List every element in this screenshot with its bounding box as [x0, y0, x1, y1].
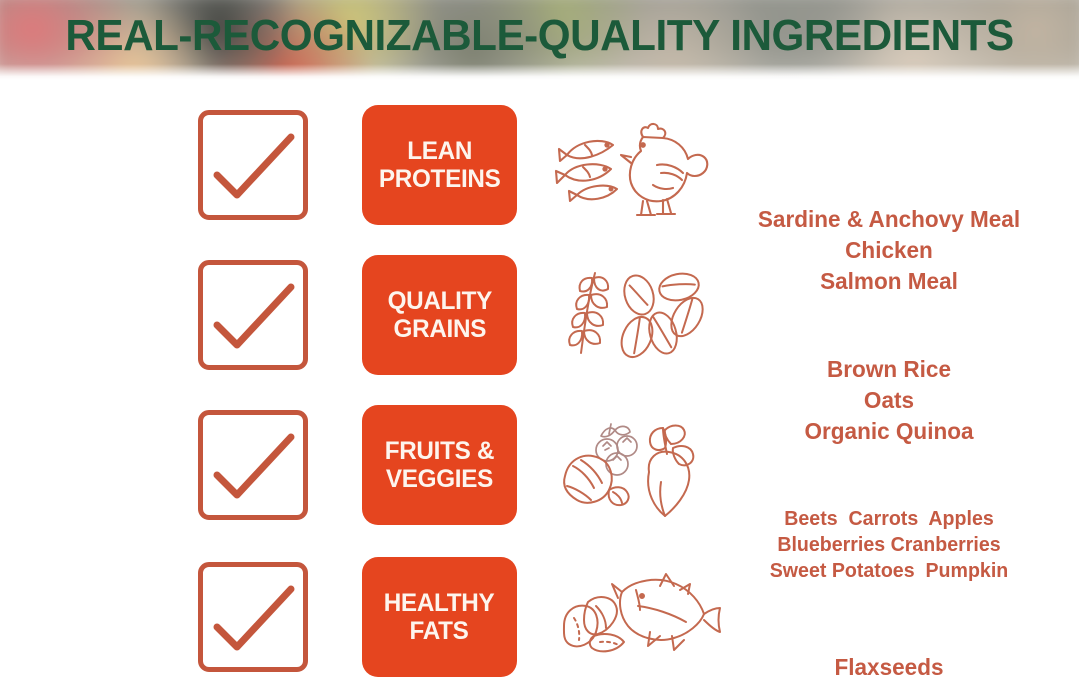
ingredient-line: Brown Rice	[719, 354, 1058, 385]
badge-lean-proteins[interactable]: LEAN PROTEINS	[362, 105, 517, 225]
badge-fruits-veggies[interactable]: FRUITS & VEGGIES	[362, 405, 517, 525]
ingredient-line: Sardine & Anchovy Meal	[719, 204, 1058, 235]
checkbox-lean-proteins[interactable]	[198, 110, 308, 220]
wheat-and-grains-icon	[548, 256, 723, 376]
badge-label: HEALTHY FATS	[384, 589, 495, 645]
ingredient-row-quality-grains: QUALITY GRAINS	[0, 250, 1079, 400]
check-icon	[203, 265, 303, 365]
ingredient-rows: LEAN PROTEINS	[0, 80, 1079, 682]
header-banner: REAL-RECOGNIZABLE-QUALITY INGREDIENTS	[0, 0, 1079, 80]
check-icon	[203, 567, 303, 667]
fish-and-chicken-icon	[548, 106, 723, 226]
ingredient-row-lean-proteins: LEAN PROTEINS	[0, 100, 1079, 250]
badge-label: QUALITY GRAINS	[387, 287, 491, 343]
page-title: REAL-RECOGNIZABLE-QUALITY INGREDIENTS	[22, 6, 1058, 66]
header-bottom-fade	[0, 64, 1079, 80]
ingredient-line: Flaxseeds	[719, 652, 1058, 682]
check-icon	[203, 115, 303, 215]
ingredients-infographic: REAL-RECOGNIZABLE-QUALITY INGREDIENTS LE…	[0, 0, 1079, 682]
checkbox-healthy-fats[interactable]	[198, 562, 308, 672]
ingredient-line: Beets Carrots Apples	[719, 506, 1058, 532]
checkbox-fruits-veggies[interactable]	[198, 410, 308, 520]
badge-quality-grains[interactable]: QUALITY GRAINS	[362, 255, 517, 375]
badge-label: LEAN PROTEINS	[379, 137, 501, 193]
seeds-and-fish-icon	[548, 558, 723, 678]
badge-label: FRUITS & VEGGIES	[385, 437, 494, 493]
badge-healthy-fats[interactable]: HEALTHY FATS	[362, 557, 517, 677]
ingredient-row-fruits-veggies: FRUITS & VEGGIES	[0, 400, 1079, 550]
checkbox-quality-grains[interactable]	[198, 260, 308, 370]
ingredient-row-healthy-fats: HEALTHY FATS	[0, 552, 1079, 682]
ingredients-healthy-fats: Flaxseeds Menhaden Fish Oil Eggs	[719, 652, 1058, 682]
sweet-potato-berries-beet-icon	[548, 406, 723, 526]
check-icon	[203, 415, 303, 515]
